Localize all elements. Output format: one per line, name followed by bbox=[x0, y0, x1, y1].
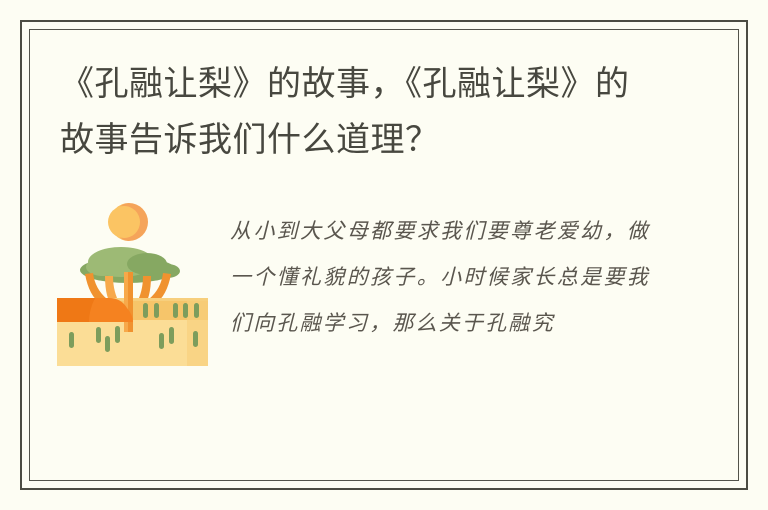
article-page: 《孔融让梨》的故事，《孔融让梨》的故事告诉我们什么道理？ bbox=[0, 0, 768, 510]
article-body: 从小到大父母都要求我们要尊老爱幼，做一个懂礼貌的孩子。小时候家长总是要我们向孔融… bbox=[55, 196, 655, 396]
article-excerpt: 从小到大父母都要求我们要尊老爱幼，做一个懂礼貌的孩子。小时候家长总是要我们向孔融… bbox=[230, 208, 650, 346]
page-title: 《孔融让梨》的故事，《孔融让梨》的故事告诉我们什么道理？ bbox=[60, 56, 660, 168]
savanna-illustration-icon bbox=[55, 200, 210, 368]
